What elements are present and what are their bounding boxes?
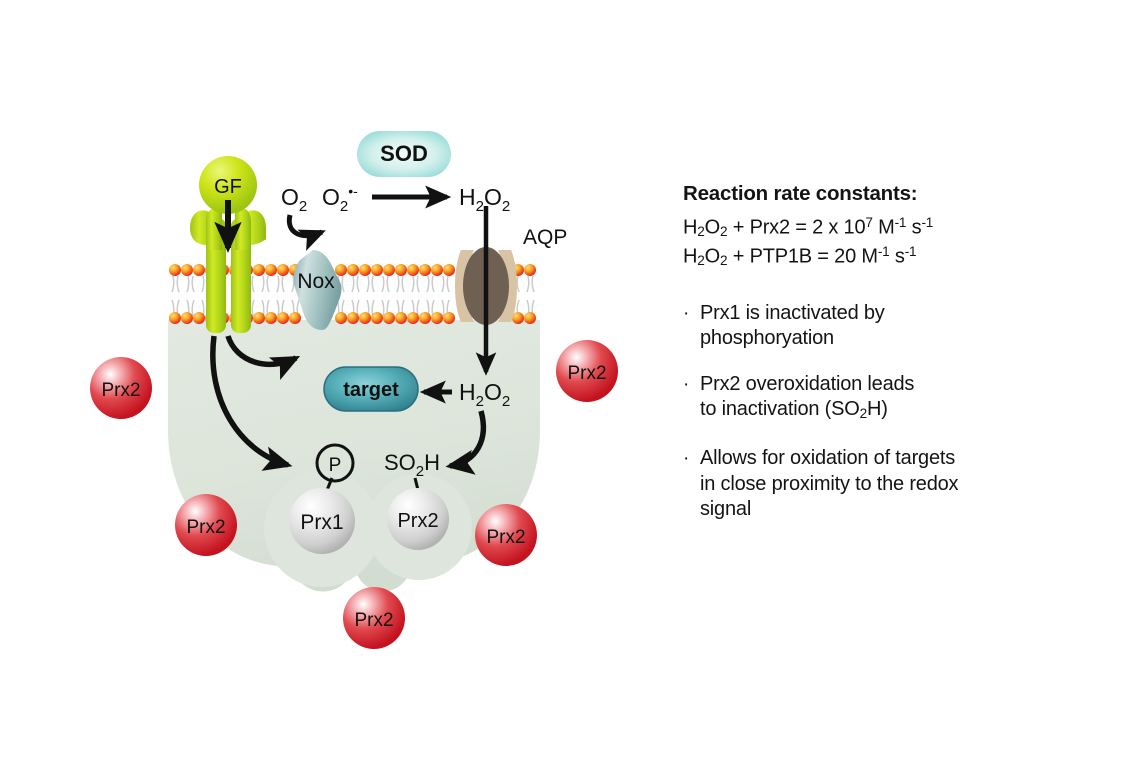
eq1-reactant: Prx2 [750, 216, 790, 238]
bullet-text-prx2: Prx2 overoxidation leads to inactivation… [700, 372, 914, 427]
eq1-exp: 7 [865, 215, 872, 230]
eq1-h: H [683, 216, 697, 238]
equation-prx2: H2O2 + Prx2 = 2 x 107 M-1 s-1 [683, 215, 1083, 239]
eq2-h: H [683, 246, 697, 268]
bullet2-line1: Prx2 overoxidation leads [700, 373, 914, 395]
equation-ptp1b: H2O2 + PTP1B = 20 M-1 s-1 [683, 244, 1083, 268]
bullet1-line1: Prx1 is inactivated by [700, 302, 885, 324]
sod-enzyme[interactable]: SOD [357, 131, 451, 177]
eq2-units-s: s [895, 246, 905, 268]
eq2-sub2: 2 [720, 253, 727, 268]
reaction-constants-title: Reaction rate constants: [683, 182, 1083, 206]
bullet3-line3: signal [700, 498, 751, 520]
o2-species: O2 O2•- [281, 183, 358, 236]
bullet-item-prx1: · Prx1 is inactivated by phosphoryation [683, 301, 1083, 352]
prx2-bound-label: Prx2 [397, 510, 438, 532]
prx2-sphere[interactable]: Prx2 [475, 504, 537, 566]
bullet-marker: · [683, 446, 700, 523]
prx2-sphere[interactable]: Prx2 [556, 340, 618, 402]
bullet3-line1: Allows for oxidation of targets [700, 447, 955, 469]
bullet-marker: · [683, 301, 700, 352]
figure-root: GF Nox AQP SOD O2 O2•- [0, 0, 1132, 759]
o2-label: O2 [281, 184, 307, 215]
bullet-text-prx1: Prx1 is inactivated by phosphoryation [700, 301, 885, 352]
sod-label: SOD [380, 141, 428, 166]
prx2-sphere-label: Prx2 [567, 363, 606, 384]
annotation-panel: Reaction rate constants: H2O2 + Prx2 = 2… [683, 182, 1083, 543]
prx2-sphere[interactable]: Prx2 [175, 494, 237, 556]
target-label: target [343, 379, 399, 401]
eq1-value: 2 x 10 [812, 216, 865, 238]
bullet-list: · Prx1 is inactivated by phosphoryation … [683, 301, 1083, 523]
bullet-item-proximity: · Allows for oxidation of targets in clo… [683, 446, 1083, 523]
eq1-sub1: 2 [697, 224, 704, 239]
eq2-reactant: PTP1B [750, 246, 812, 268]
eq1-sub2: 2 [720, 224, 727, 239]
prx2-sphere-label: Prx2 [354, 610, 393, 631]
bullet-marker: · [683, 372, 700, 427]
signaling-diagram: GF Nox AQP SOD O2 O2•- [0, 0, 660, 759]
eq1-units-s: s [912, 216, 922, 238]
prx2-sphere-label: Prx2 [186, 517, 225, 538]
eq1-o: O [705, 216, 720, 238]
o2-to-superoxide-arrow [289, 215, 322, 236]
eq2-o: O [705, 246, 720, 268]
bullet-text-proximity: Allows for oxidation of targets in close… [700, 446, 958, 523]
prx2-sphere[interactable]: Prx2 [343, 587, 405, 649]
aqp-channel[interactable]: AQP [455, 226, 567, 325]
prx1-label: Prx1 [300, 511, 343, 534]
bullet3-line2: in close proximity to the redox [700, 473, 958, 495]
eq2-sub1: 2 [697, 253, 704, 268]
nox-label: Nox [297, 270, 335, 293]
aqp-label: AQP [523, 226, 567, 249]
eq1-units-m: M [878, 216, 894, 238]
superoxide-label: O2•- [322, 183, 358, 215]
eq1-units-m-exp: -1 [895, 215, 907, 230]
bullet2-line2b: H) [867, 398, 888, 420]
bullet2-line2a: to inactivation (SO [700, 398, 860, 420]
bullet1-line2: phosphoryation [700, 327, 834, 349]
eq2-units-m-exp: -1 [878, 244, 890, 259]
target-protein[interactable]: target [324, 367, 418, 411]
eq2-units-m: M [861, 246, 877, 268]
eq1-units-s-exp: -1 [921, 215, 933, 230]
eq2-value: 20 [834, 246, 856, 268]
bullet2-sub: 2 [860, 406, 867, 421]
bullet-item-prx2: · Prx2 overoxidation leads to inactivati… [683, 372, 1083, 427]
prx2-overoxidized-complex[interactable]: SO2H Prx2 [384, 450, 449, 550]
gf-label: GF [214, 176, 242, 198]
prx2-sphere-label: Prx2 [101, 380, 140, 401]
prx2-sphere[interactable]: Prx2 [90, 357, 152, 419]
eq2-units-s-exp: -1 [905, 244, 917, 259]
prx2-sphere-label: Prx2 [486, 527, 525, 548]
phospho-label: P [329, 455, 342, 476]
